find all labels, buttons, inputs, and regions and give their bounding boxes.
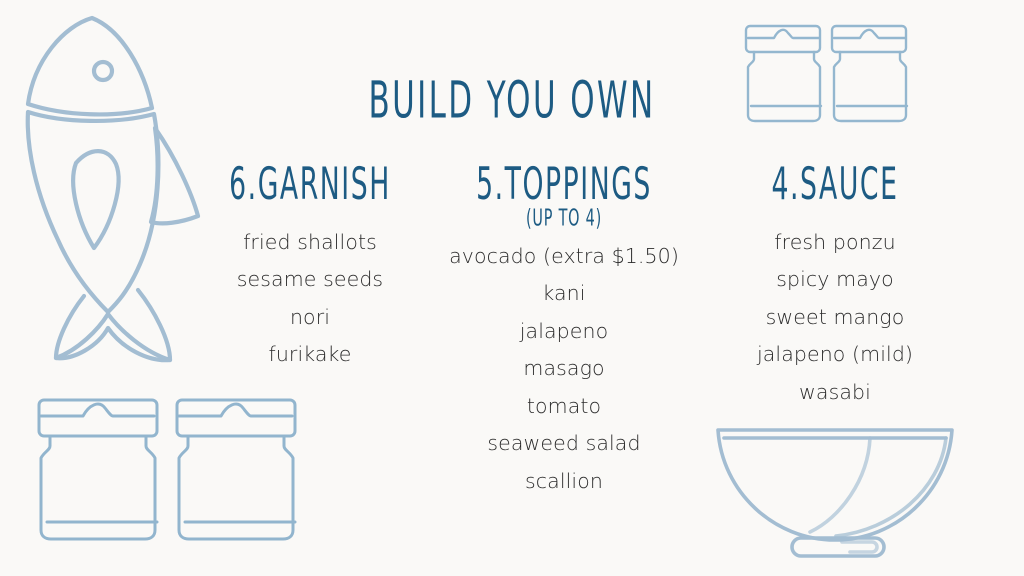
column-heading-garnish: 6.GARNISH [221, 162, 399, 208]
fish-icon [12, 8, 222, 373]
column-toppings: 5.TOPPINGS (UP TO 4) avocado (extra $1.5… [416, 162, 712, 500]
list-item: jalapeno (mild) [716, 336, 954, 374]
column-subheading-toppings: (UP TO 4) [446, 206, 683, 229]
list-item: kani [416, 275, 712, 313]
column-heading-toppings: 5.TOPPINGS [449, 162, 680, 208]
option-list-sauce: fresh ponzu spicy mayo sweet mango jalap… [716, 224, 954, 412]
menu-board: BUILD YOU OWN 6.GARNISH fried shallots s… [0, 0, 1024, 576]
list-item: tomato [416, 388, 712, 426]
column-heading-sauce: 4.SAUCE [742, 162, 928, 208]
column-sauce: 4.SAUCE fresh ponzu spicy mayo sweet man… [716, 162, 954, 411]
page-title: BUILD YOU OWN [102, 76, 921, 127]
list-item: avocado (extra $1.50) [416, 238, 712, 276]
list-item: nori [196, 299, 424, 337]
list-item: seaweed salad [416, 425, 712, 463]
list-item: sesame seeds [196, 261, 424, 299]
list-item: spicy mayo [716, 261, 954, 299]
list-item: fresh ponzu [716, 224, 954, 262]
list-item: jalapeno [416, 313, 712, 351]
list-item: sweet mango [716, 299, 954, 337]
jars-icon [22, 382, 302, 562]
column-garnish: 6.GARNISH fried shallots sesame seeds no… [196, 162, 424, 374]
option-list-toppings: avocado (extra $1.50) kani jalapeno masa… [416, 238, 712, 501]
option-list-garnish: fried shallots sesame seeds nori furikak… [196, 224, 424, 374]
list-item: scallion [416, 463, 712, 501]
list-item: fried shallots [196, 224, 424, 262]
list-item: furikake [196, 336, 424, 374]
list-item: masago [416, 350, 712, 388]
list-item: wasabi [716, 374, 954, 412]
bowl-icon [700, 408, 970, 568]
